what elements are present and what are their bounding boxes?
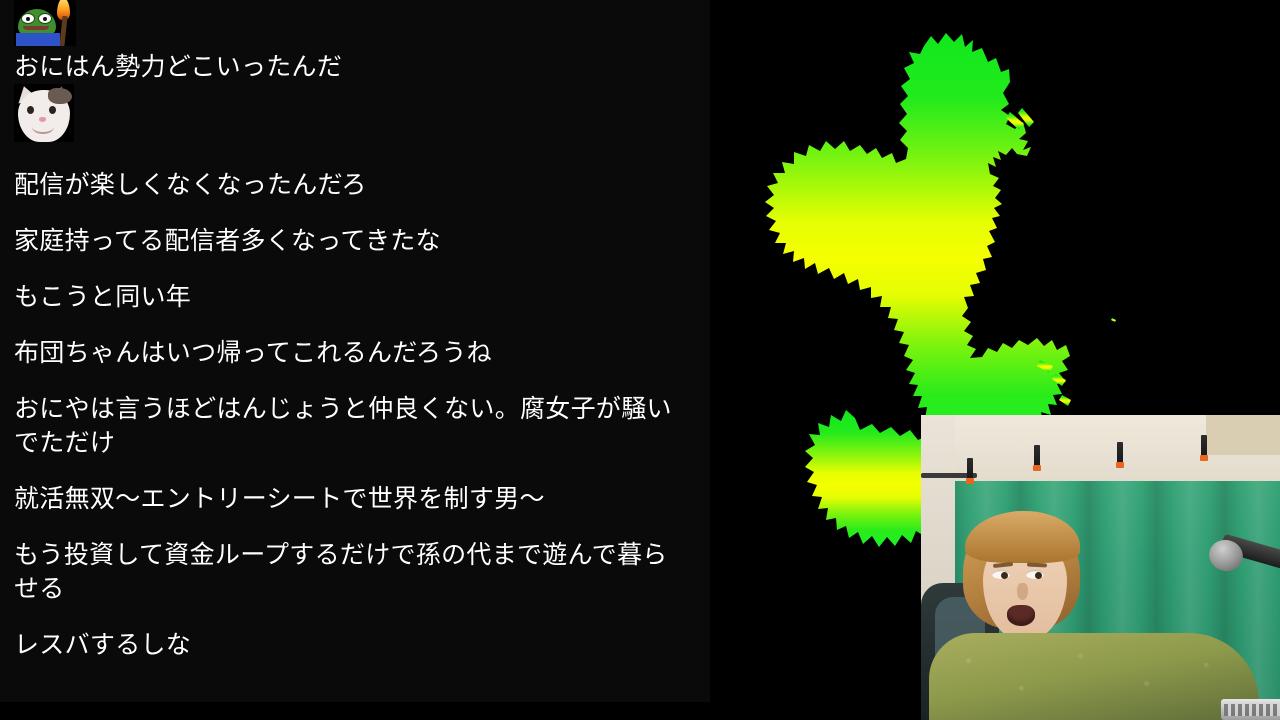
cat-eye-left (27, 106, 34, 114)
curtain-clip-icon (967, 458, 973, 481)
frog-pupil-left (26, 17, 30, 21)
keyboard (1221, 699, 1280, 720)
chat-message-text: レスバするしな (14, 628, 688, 662)
chat-message[interactable]: もう投資して資金ループするだけで孫の代まで遊んで暮らせる (0, 538, 710, 606)
stream-layout: おにはん勢力どこいったんだ配信が楽しくなくなったんだろ家庭持ってる配信者多くなっ… (0, 0, 1280, 720)
mouth (1007, 605, 1035, 626)
chat-message[interactable]: 家庭持ってる配信者多くなってきたな (0, 224, 710, 258)
chat-message[interactable]: おにはん勢力どこいったんだ (0, 50, 710, 84)
chat-message-text: 布団ちゃんはいつ帰ってこれるんだろうね (14, 336, 688, 370)
frog-eye-right (38, 13, 52, 24)
chat-message[interactable]: 布団ちゃんはいつ帰ってこれるんだろうね (0, 336, 710, 370)
chat-message[interactable]: おにやは言うほどはんじょうと仲良くない。腐女子が騒いでただけ (0, 392, 710, 460)
chat-emote-row (0, 0, 710, 48)
cat-eye-right (49, 106, 56, 114)
streamer-webcam[interactable] (921, 415, 1280, 720)
pepe-frog-torch-icon (14, 0, 76, 46)
frog-shirt (16, 33, 60, 46)
chat-message-text: おにやは言うほどはんじょうと仲良くない。腐女子が騒いでただけ (14, 392, 688, 460)
pupil-left (1001, 572, 1008, 579)
chat-message-text: 配信が楽しくなくなったんだろ (14, 168, 688, 202)
chat-message-text: おにはん勢力どこいったんだ (14, 50, 688, 84)
eye-right (1026, 570, 1044, 579)
chat-message-text: 就活無双〜エントリーシートで世界を制す男〜 (14, 482, 688, 516)
frog-eye-left (21, 13, 35, 24)
streamer-fleece-jacket (929, 633, 1259, 720)
chat-message-text: もう投資して資金ループするだけで孫の代まで遊んで暮らせる (14, 538, 688, 606)
wall-corner (1206, 415, 1280, 455)
chat-message[interactable]: レスバするしな (0, 628, 710, 662)
chat-message-text: もこうと同い年 (14, 280, 688, 314)
white-cat-smiling-icon (14, 84, 74, 142)
chat-message[interactable]: 就活無双〜エントリーシートで世界を制す男〜 (0, 482, 710, 516)
cat-smile (32, 120, 54, 134)
torch-stick-icon (59, 16, 67, 46)
nose (1017, 583, 1028, 600)
curtain-clip-icon (1034, 445, 1040, 468)
chat-emote-row (0, 84, 710, 146)
curtain-clip-icon (1117, 442, 1123, 465)
pupil-right (1035, 572, 1042, 579)
curtain-clip-icon (1201, 435, 1207, 458)
frog-pupil-right (43, 17, 47, 21)
cat-head-patch (48, 88, 72, 104)
chat-panel[interactable]: おにはん勢力どこいったんだ配信が楽しくなくなったんだろ家庭持ってる配信者多くなっ… (0, 0, 710, 702)
chat-message[interactable]: もこうと同い年 (0, 280, 710, 314)
frog-mouth (23, 26, 49, 30)
eye-left (992, 570, 1010, 579)
keyboard-keys (1224, 704, 1280, 716)
chat-message[interactable]: 配信が楽しくなくなったんだろ (0, 168, 710, 202)
fleece-texture (929, 633, 1259, 720)
chat-message-text: 家庭持ってる配信者多くなってきたな (14, 224, 688, 258)
chat-message-list[interactable]: おにはん勢力どこいったんだ配信が楽しくなくなったんだろ家庭持ってる配信者多くなっ… (0, 0, 710, 662)
